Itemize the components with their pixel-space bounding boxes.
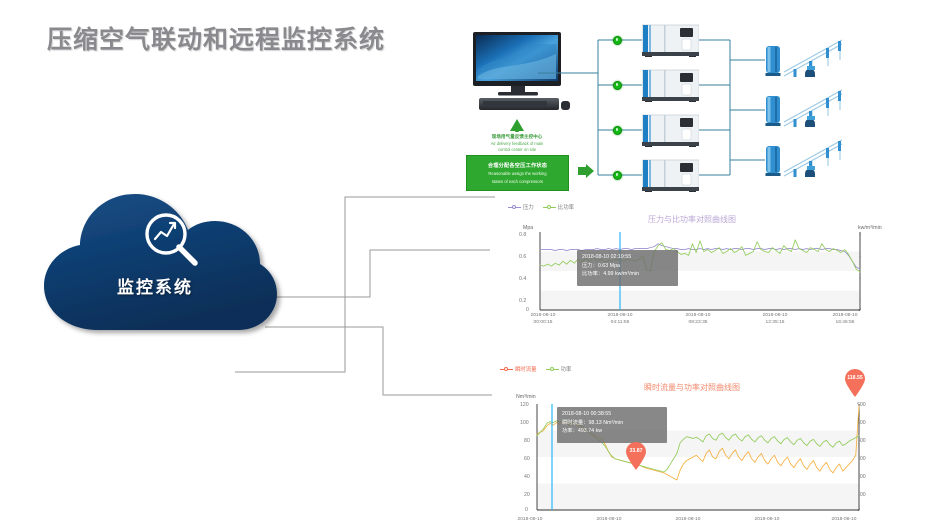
- compressor-unit-icon: [642, 159, 699, 192]
- xtick: 2018-08-10: [675, 517, 700, 524]
- flow-power-chart-plot[interactable]: [492, 362, 892, 529]
- compressor-unit-icon: [642, 69, 699, 102]
- tooltip-flow: 瞬时流量：98.13 Nm³/min: [562, 419, 662, 428]
- xtick: 2018-08-1016:46:55: [832, 313, 857, 326]
- pressure-chart-panel[interactable]: 压力 比功率 压力与比功率对照曲线图 Mpa kw/m³/min 0.8 0.6…: [492, 200, 892, 335]
- monitoring-cloud[interactable]: 监控系统: [30, 188, 288, 338]
- flow-chart-tooltip: 2018-08-10 00:38:55 瞬时流量：98.13 Nm³/min 功…: [557, 407, 667, 443]
- tooltip-timestamp: 2018-08-10 00:38:55: [562, 410, 662, 419]
- compressor-status-dot: [613, 126, 622, 135]
- topology-diagram-panel: 现场用气量反馈主控中心 Air delivery feedback of mai…: [430, 18, 935, 200]
- distribution-pipe-network-icon: [782, 36, 850, 78]
- magnifier-chart-icon: [140, 208, 202, 270]
- compressor-unit-icon: [642, 114, 699, 147]
- marker-label: 118.55: [844, 375, 866, 381]
- flow-power-chart-panel[interactable]: 瞬时流量 功率 瞬时流量与功率对照曲线图 Nm³/min 120 100 80 …: [492, 362, 892, 529]
- compressor-status-dot: [613, 171, 622, 180]
- xtick: 2018-08-10: [517, 517, 542, 524]
- flow-marker-low[interactable]: 33.87: [625, 442, 647, 470]
- xtick: 2018-08-1000:00:15: [530, 313, 555, 326]
- cloud-label: 监控系统: [30, 273, 280, 298]
- tooltip-power: 功率：493.74 kw: [562, 427, 662, 436]
- xtick: 2018-08-1012:35:15: [762, 313, 787, 326]
- tooltip-pressure: 压力：0.63 Mpa: [582, 262, 673, 271]
- compressor-status-dot: [613, 81, 622, 90]
- distribution-pipe-network-icon: [782, 136, 850, 178]
- marker-label: 33.87: [625, 448, 647, 454]
- xtick: 2018-08-10: [754, 517, 779, 524]
- compressor-unit-icon: [642, 24, 699, 57]
- distribution-pipe-network-icon: [782, 86, 850, 128]
- slide-canvas: 压缩空气联动和远程监控系统: [0, 0, 945, 529]
- xtick: 2018-08-1004:11:55: [607, 313, 632, 326]
- pin-marker-icon: [625, 442, 647, 470]
- air-tank-icon: [765, 144, 781, 177]
- xtick: 2018-08-1008:23:35: [685, 313, 710, 326]
- pressure-chart-tooltip: 2018-08-10 02:19:55 压力：0.63 Mpa 比功率：4.99…: [577, 250, 678, 286]
- air-tank-icon: [765, 44, 781, 77]
- flow-marker-high[interactable]: 118.55: [844, 369, 866, 397]
- air-tank-icon: [765, 94, 781, 127]
- tooltip-specific-power: 比功率：4.99 kw/m³/min: [582, 270, 673, 279]
- xtick: 2018-08-10: [596, 517, 621, 524]
- pin-marker-icon: [844, 369, 866, 397]
- xtick: 2018-08-10: [831, 517, 856, 524]
- tooltip-timestamp: 2018-08-10 02:19:55: [582, 253, 673, 262]
- compressor-status-dot: [613, 36, 622, 45]
